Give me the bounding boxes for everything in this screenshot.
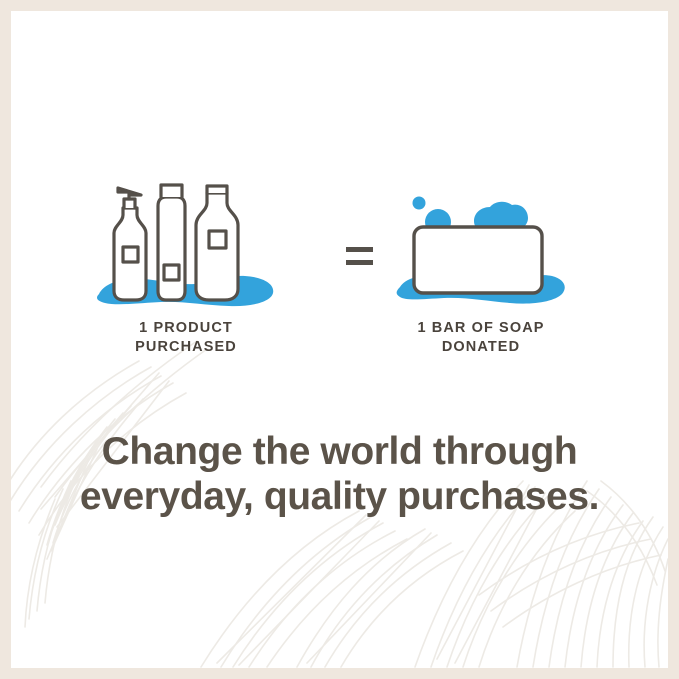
pump-bottle [114, 188, 146, 300]
product-bottles-block: 1 PRODUCT PURCHASED [61, 181, 311, 357]
three-product-bottles-icon [91, 181, 281, 311]
soap-bar-block: 1 BAR OF SOAP DONATED [356, 181, 606, 357]
page-headline: Change the world through everyday, quali… [11, 429, 668, 519]
soap-foam [474, 202, 528, 229]
tube-bottle [158, 185, 185, 300]
product-bottles-caption: 1 PRODUCT PURCHASED [61, 319, 311, 357]
soap-bar-body [414, 227, 542, 293]
soap-bar-caption: 1 BAR OF SOAP DONATED [356, 319, 606, 357]
poster-canvas: 1 PRODUCT PURCHASED [11, 11, 668, 668]
poster: 1 PRODUCT PURCHASED [0, 0, 679, 679]
bubble-small-top [413, 197, 426, 210]
equation-row: 1 PRODUCT PURCHASED [11, 181, 668, 391]
bar-of-soap-icon [386, 181, 576, 311]
round-shoulder-bottle [196, 186, 238, 300]
